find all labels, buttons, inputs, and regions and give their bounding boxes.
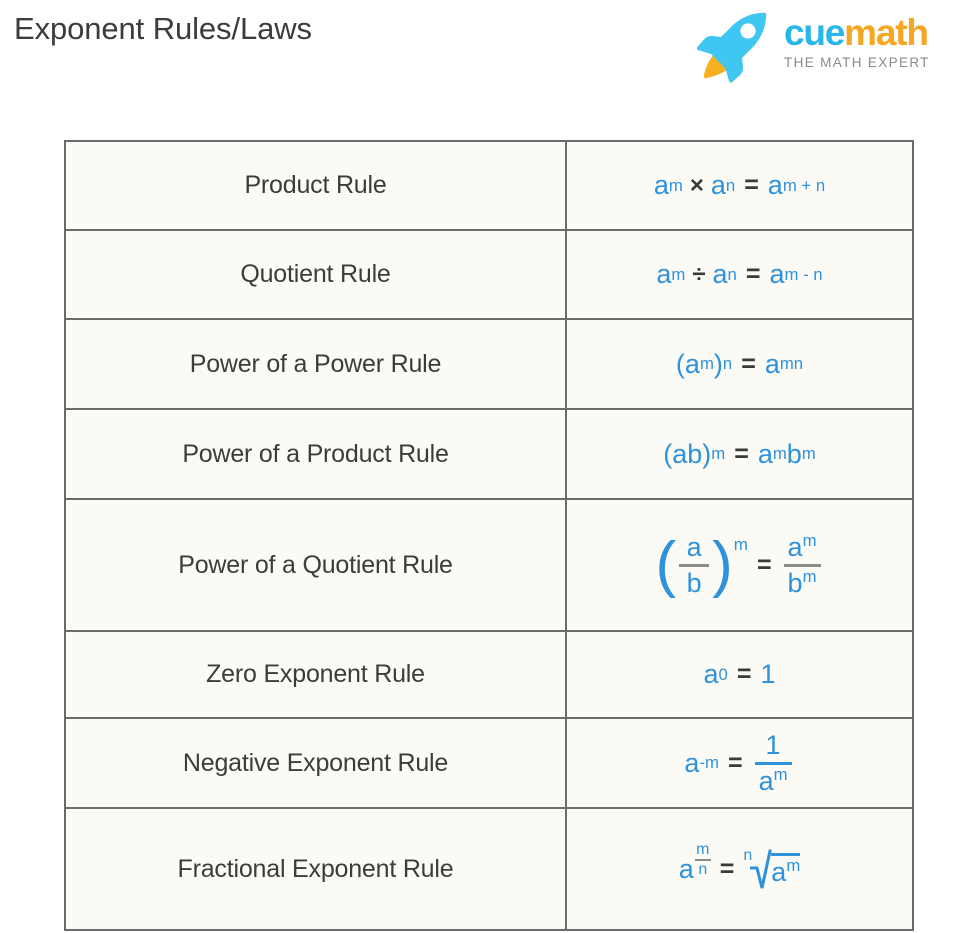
equals-operator: = [720,857,735,882]
formula-result-base: a [768,172,783,199]
formula-base: a [656,261,671,288]
formula-base-2: a [713,261,728,288]
rule-name-label: Power of a Quotient Rule [178,551,453,579]
radicand: am [771,853,800,886]
formula-product-rule: am×an=am + n [654,172,825,199]
formula-result-base: a [769,261,784,288]
square-root-icon [750,846,772,892]
rule-name-cell: Fractional Exponent Rule [65,808,566,930]
brand-text: cuemath THE MATH EXPERT [784,14,930,70]
denominator-base: a [759,766,774,796]
rule-formula-cell: am×an=am + n [566,141,913,230]
formula-zero-exponent-rule: a0=1 [704,661,776,688]
fraction-numerator: am [784,532,821,563]
fraction-am-over-bm: am bm [784,532,821,599]
rule-formula-cell: am÷an=am - n [566,230,913,319]
formula-fractional-exponent-rule: amn=nam [679,846,801,892]
formula-power-of-quotient-rule: ( a b ) m = am bm [655,532,823,599]
exponent-numerator: m [696,842,709,858]
fraction-denominator: am [755,766,792,797]
fraction-bar [679,564,709,567]
brand-word-cue: cue [784,12,844,53]
fraction-denominator: bm [784,568,821,599]
table-row: Power of a Product Rule (ab)m=ambm [65,409,913,499]
table-row: Product Rule am×an=am + n [65,141,913,230]
formula-base: a [685,351,700,378]
rule-name-label: Power of a Power Rule [190,350,441,378]
rule-formula-cell: a0=1 [566,631,913,718]
radicand-exponent: m [786,856,800,875]
rule-name-label: Fractional Exponent Rule [178,855,454,883]
formula-base: a [704,661,719,688]
rule-name-label: Negative Exponent Rule [183,749,448,777]
exponent-fraction-m-over-n: mn [695,842,711,878]
close-paren: ) [712,539,733,592]
table-row: Quotient Rule am÷an=am - n [65,230,913,319]
formula-exponent: m [734,536,748,553]
multiply-operator: × [690,174,704,198]
rule-name-cell: Zero Exponent Rule [65,631,566,718]
numerator-base: a [788,532,803,562]
equals-operator: = [744,173,759,198]
radical-expression: nam [743,846,800,892]
brand-word-math: math [844,12,928,53]
open-paren: ( [655,539,676,592]
fraction-a-over-b: a b [679,532,709,599]
formula-result: 1 [760,661,775,688]
rule-formula-cell: (ab)m=ambm [566,409,913,499]
formula-power-of-power-rule: (am)n=amn [676,351,803,378]
denominator-exponent: m [803,567,817,586]
open-paren: ( [663,441,672,468]
equals-operator: = [737,662,752,687]
formula-base-2: a [711,172,726,199]
formula-result-base: a [765,351,780,378]
equals-operator: = [746,262,761,287]
formula-negative-exponent-rule: a-m=1am [684,730,794,797]
fraction-numerator: a [683,532,706,563]
table-row: Zero Exponent Rule a0=1 [65,631,913,718]
rocket-icon [694,9,778,83]
rule-formula-cell: amn=nam [566,808,913,930]
formula-result-base-2: b [787,441,802,468]
close-paren: ) [714,351,723,378]
denominator-base: b [788,568,803,598]
table-row: Power of a Power Rule (am)n=amn [65,319,913,409]
formula-base: a [654,172,669,199]
denominator-exponent: m [774,765,788,784]
rule-formula-cell: ( a b ) m = am bm [566,499,913,631]
equals-operator: = [734,442,749,467]
numerator-exponent: m [803,531,817,550]
table-row: Power of a Quotient Rule ( a b ) m = [65,499,913,631]
formula-base: a [684,750,699,777]
rule-name-label: Quotient Rule [240,260,390,288]
rule-name-label: Zero Exponent Rule [206,660,425,688]
brand-tagline: THE MATH EXPERT [784,55,930,70]
formula-quotient-rule: am÷an=am - n [656,261,822,288]
open-paren: ( [676,351,685,378]
formula-power-of-product-rule: (ab)m=ambm [663,441,816,468]
exponent-denominator: n [698,862,707,878]
equals-operator: = [741,352,756,377]
table-row: Negative Exponent Rule a-m=1am [65,718,913,808]
rule-name-cell: Product Rule [65,141,566,230]
radical-body: am [750,846,800,892]
fraction-numerator: 1 [762,730,785,761]
formula-base: ab [672,441,702,468]
exponent-rules-table: Product Rule am×an=am + n Quotient Rule … [64,140,914,931]
radicand-base: a [771,857,786,887]
rule-name-label: Power of a Product Rule [182,440,448,468]
parenthesized-fraction: ( a b ) m [655,532,747,599]
formula-result-base-1: a [758,441,773,468]
page-title: Exponent Rules/Laws [14,11,312,47]
rule-name-cell: Quotient Rule [65,230,566,319]
table-row: Fractional Exponent Rule amn=nam [65,808,913,930]
close-paren: ) [702,441,711,468]
rule-name-cell: Negative Exponent Rule [65,718,566,808]
rule-name-cell: Power of a Power Rule [65,319,566,409]
rule-name-label: Product Rule [244,171,386,199]
divide-operator: ÷ [692,263,705,287]
fraction-one-over-am: 1am [755,730,792,797]
rule-name-cell: Power of a Quotient Rule [65,499,566,631]
formula-base: a [679,856,694,883]
brand-wordmark: cuemath [784,14,930,53]
rule-formula-cell: a-m=1am [566,718,913,808]
equals-operator: = [757,553,772,578]
rule-formula-cell: (am)n=amn [566,319,913,409]
cuemath-logo: cuemath THE MATH EXPERT [694,6,930,83]
rule-name-cell: Power of a Product Rule [65,409,566,499]
equals-operator: = [728,751,743,776]
fraction-denominator: b [683,568,706,599]
